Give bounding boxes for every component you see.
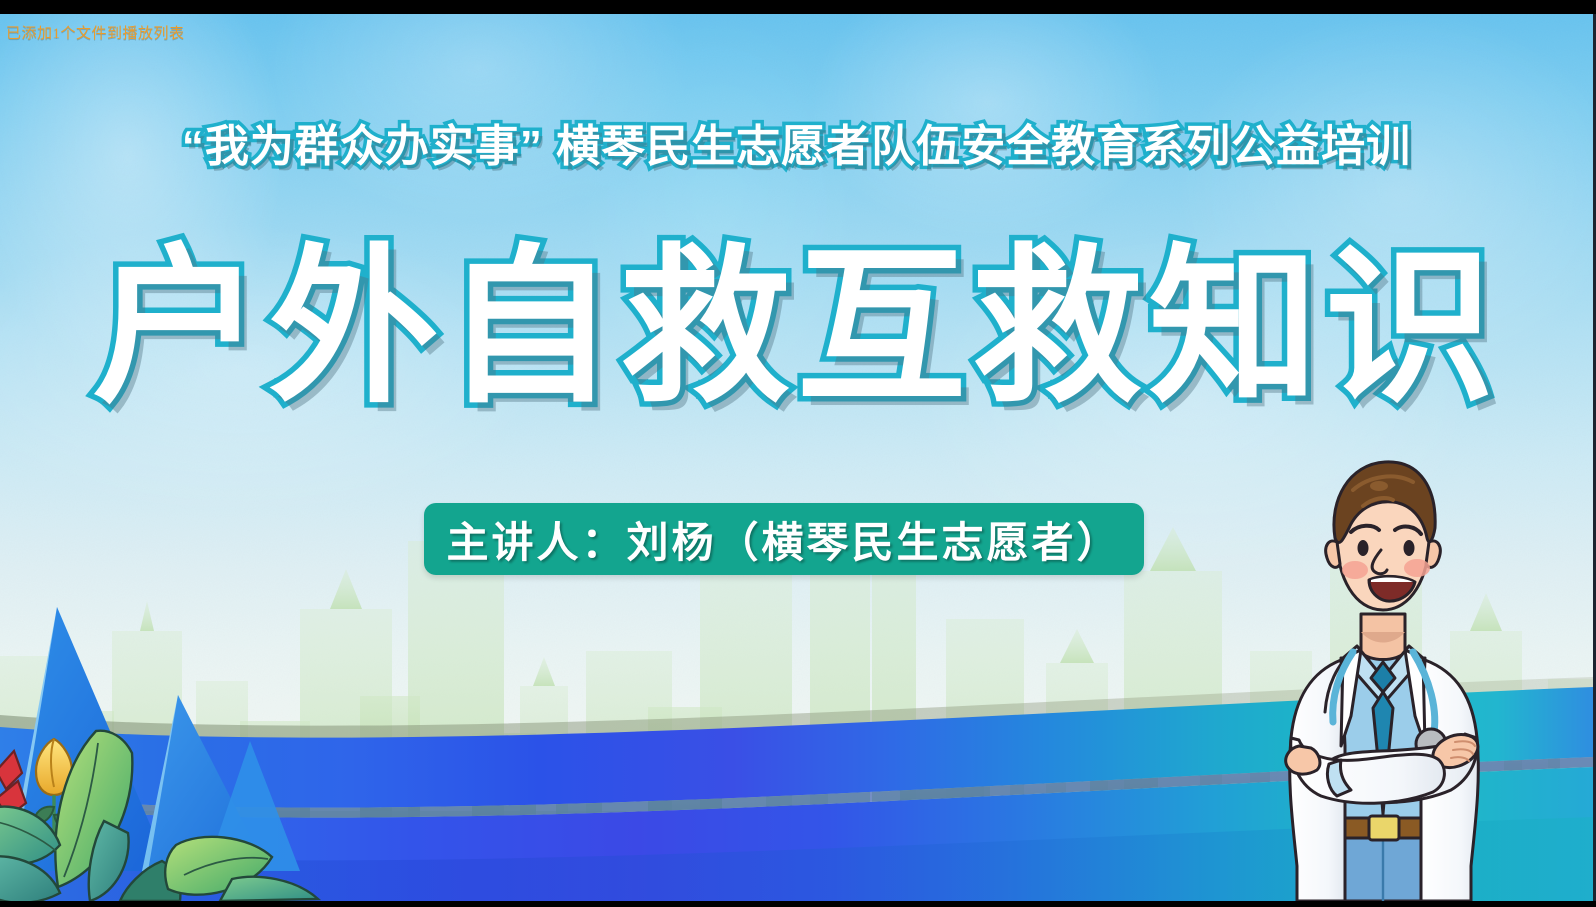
slide-title: 户外自救互救知识 <box>0 236 1593 421</box>
letterbox-bar-bottom <box>0 901 1596 907</box>
gradient-wave-ribbon <box>0 641 1593 901</box>
cartoon-doctor-illustration <box>1233 446 1533 901</box>
slide-subtitle: “我为群众办实事” 横琴民生志愿者队伍安全教育系列公益培训 <box>0 110 1593 174</box>
letterbox-bar-top <box>0 0 1596 14</box>
speaker-banner: 主讲人：刘杨（横琴民生志愿者） <box>424 503 1144 575</box>
speaker-label: 主讲人：刘杨（横琴民生志愿者） <box>446 509 1121 570</box>
blue-triangle-mountains <box>0 571 460 901</box>
tropical-leaves-and-flowers <box>0 611 330 901</box>
video-player-viewport[interactable]: “我为群众办实事” 横琴民生志愿者队伍安全教育系列公益培训 户外自救互救知识 主… <box>0 0 1596 907</box>
presentation-slide: “我为群众办实事” 横琴民生志愿者队伍安全教育系列公益培训 户外自救互救知识 主… <box>0 14 1593 901</box>
osd-toast-message: 已添加1个文件到播放列表 <box>6 22 185 43</box>
